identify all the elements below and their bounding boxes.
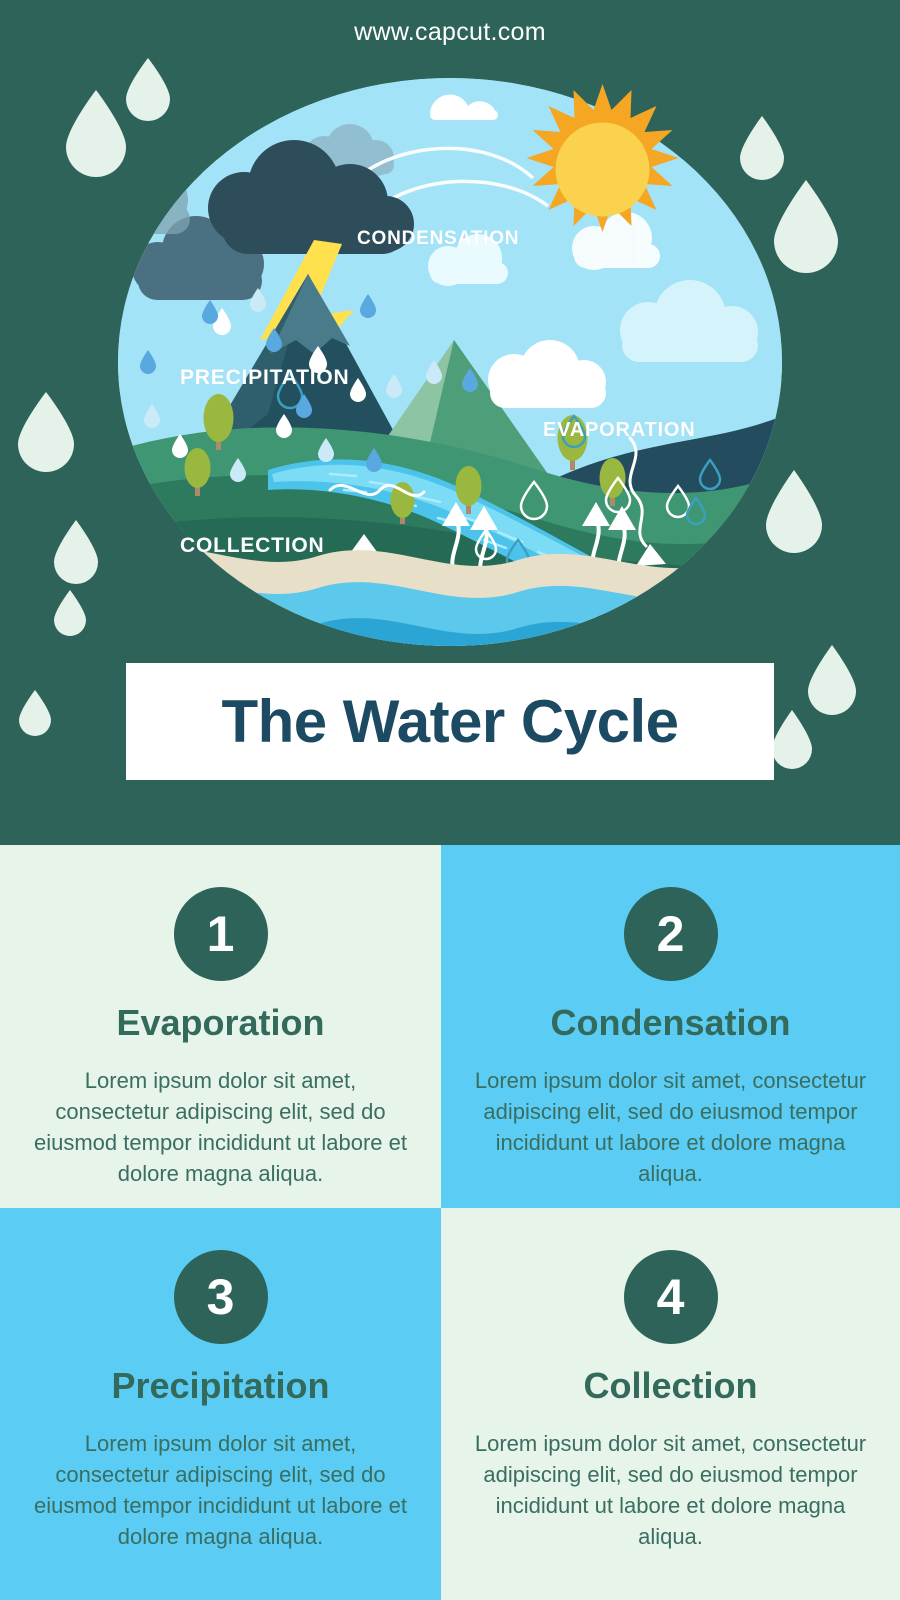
step-number-badge: 1 [174,887,268,981]
step-description: Lorem ipsum dolor sit amet, consectetur … [30,1428,411,1553]
infographic-page: www.capcut.com [0,0,900,1600]
step-card-evaporation[interactable]: 1 Evaporation Lorem ipsum dolor sit amet… [0,845,441,1208]
step-number-badge: 4 [624,1250,718,1344]
step-title: Evaporation [116,1003,324,1043]
title-ribbon: The Water Cycle [126,663,774,780]
step-card-collection[interactable]: 4 Collection Lorem ipsum dolor sit amet,… [441,1208,900,1600]
raindrop-icon [126,58,170,121]
hero-section: www.capcut.com [0,0,900,845]
raindrop-icon [54,520,98,584]
scene-label-evaporation: EVAPORATION [543,419,696,442]
scene-label-precipitation: PRECIPITATION [180,366,349,390]
raindrop-icon [740,116,784,180]
step-number-badge: 3 [174,1250,268,1344]
step-card-condensation[interactable]: 2 Condensation Lorem ipsum dolor sit ame… [441,845,900,1208]
step-card-precipitation[interactable]: 3 Precipitation Lorem ipsum dolor sit am… [0,1208,441,1600]
raindrop-icon [774,180,838,273]
sun-icon [515,82,690,257]
scene-label-condensation: CONDENSATION [357,228,519,250]
step-title: Collection [583,1366,757,1406]
step-number-badge: 2 [624,887,718,981]
raindrop-icon [766,470,822,553]
step-title: Precipitation [111,1366,329,1406]
step-description: Lorem ipsum dolor sit amet, consectetur … [473,1428,868,1553]
scene-label-collection: COLLECTION [180,534,325,558]
step-description: Lorem ipsum dolor sit amet, consectetur … [30,1065,411,1190]
step-title: Condensation [551,1003,791,1043]
raindrop-icon [772,710,812,769]
page-title: The Water Cycle [126,663,774,780]
raindrop-icon [18,392,74,472]
raindrop-icon [808,645,856,715]
raindrop-icon [19,690,51,736]
step-description: Lorem ipsum dolor sit amet, consectetur … [473,1065,868,1190]
steps-grid: 1 Evaporation Lorem ipsum dolor sit amet… [0,845,900,1600]
raindrop-icon [54,590,86,636]
raindrop-icon [66,90,126,177]
